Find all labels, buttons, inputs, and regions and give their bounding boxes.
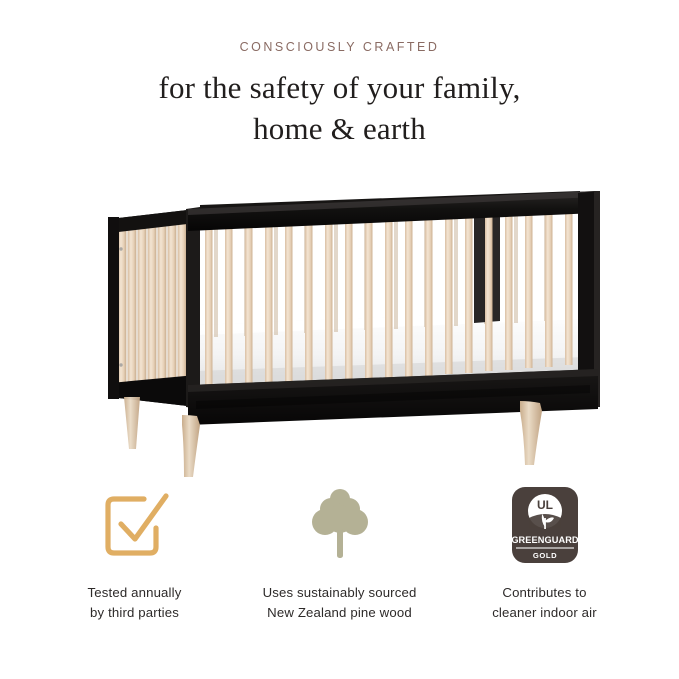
- feature-caption-line-2: New Zealand pine wood: [263, 603, 417, 623]
- feature-greenguard-gold: UL GREENGUARD GOLD Contributes to: [442, 483, 647, 623]
- feature-caption-line-2: cleaner indoor air: [492, 603, 597, 623]
- crib-left-end-panel: [108, 207, 200, 409]
- feature-caption: Contributes to cleaner indoor air: [492, 583, 597, 623]
- feature-icon-wrap: [97, 483, 173, 569]
- feature-icon-wrap: [309, 483, 371, 569]
- gold-tier-text: GOLD: [532, 551, 556, 560]
- feature-icon-wrap: UL GREENGUARD GOLD: [508, 483, 582, 569]
- crib-illustration: [0, 157, 679, 477]
- feature-caption: Tested annually by third parties: [88, 583, 182, 623]
- feature-caption: Uses sustainably sourced New Zealand pin…: [263, 583, 417, 623]
- greenguard-gold-badge-icon: UL GREENGUARD GOLD: [508, 485, 582, 567]
- feature-tested-annually: Tested annually by third parties: [32, 483, 237, 623]
- page-title: for the safety of your family, home & ea…: [0, 67, 679, 149]
- tree-icon: [309, 486, 371, 566]
- marketing-panel: CONSCIOUSLY CRAFTED for the safety of yo…: [0, 0, 679, 679]
- ul-mark-text: UL: [537, 498, 553, 512]
- feature-caption-line-1: Contributes to: [492, 583, 597, 603]
- headline-line-2: home & earth: [253, 111, 426, 146]
- feature-caption-line-1: Uses sustainably sourced: [263, 583, 417, 603]
- eyebrow-text: CONSCIOUSLY CRAFTED: [0, 40, 679, 55]
- checkbox-check-icon: [97, 488, 173, 564]
- header: CONSCIOUSLY CRAFTED for the safety of yo…: [0, 0, 679, 149]
- feature-sustainable-wood: Uses sustainably sourced New Zealand pin…: [237, 483, 442, 623]
- product-image: [0, 157, 679, 477]
- feature-caption-line-1: Tested annually: [88, 583, 182, 603]
- feature-caption-line-2: by third parties: [88, 603, 182, 623]
- headline-line-1: for the safety of your family,: [158, 70, 520, 105]
- features-row: Tested annually by third parties: [0, 483, 679, 623]
- greenguard-name-text: GREENGUARD: [511, 535, 579, 545]
